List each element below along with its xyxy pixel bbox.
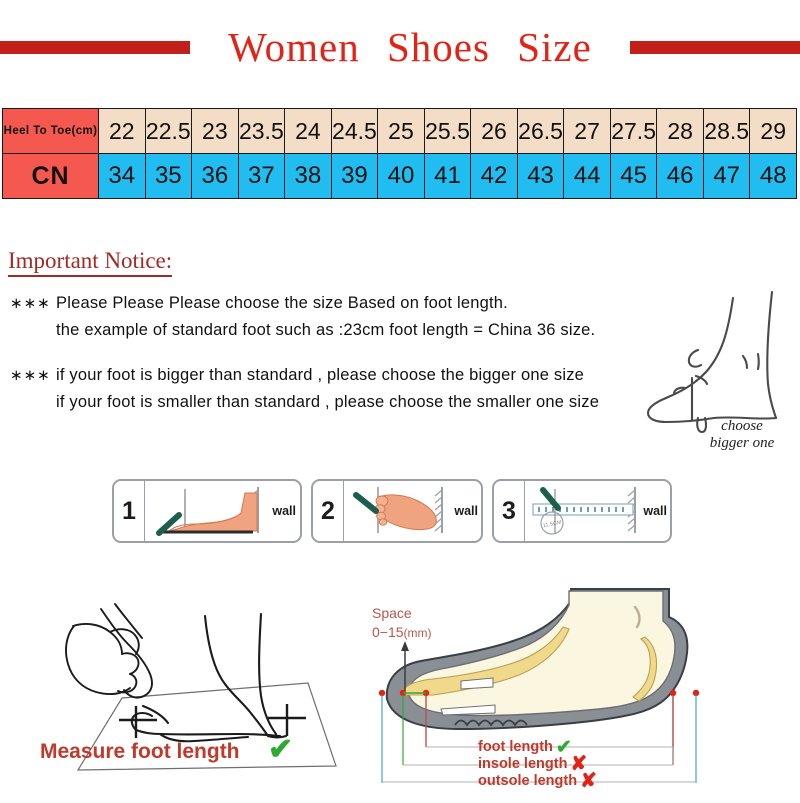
measuring-steps-panel: 1 [112, 479, 672, 543]
cell-cn-7: 41 [424, 154, 471, 199]
cell-cm-9: 26.5 [517, 109, 564, 154]
space-dimension-label: Space 0−15(mm) [372, 604, 432, 643]
title-word-2: Shoes [387, 24, 490, 70]
cell-cm-6: 25 [378, 109, 425, 154]
legend-row-outsole-length: outsole length ✘ [478, 773, 738, 790]
notice-line-1: ∗∗∗Please Please Please choose the size … [10, 290, 670, 317]
cell-cm-5: 24.5 [331, 109, 378, 154]
step-3-illustration: 11.5CM wall [525, 481, 671, 541]
cell-cn-14: 48 [750, 154, 797, 199]
step-2-illustration: wall [344, 481, 482, 541]
cell-cm-2: 23 [192, 109, 239, 154]
cell-cn-1: 35 [145, 154, 192, 199]
cell-cm-8: 26 [471, 109, 518, 154]
table-row-cn: CN 34 35 36 37 38 39 40 41 42 43 44 45 4… [3, 154, 797, 199]
shoe-diagram-legend: foot length ✔ insole length ✘ outsole le… [478, 739, 738, 790]
cell-cn-10: 44 [564, 154, 611, 199]
row-label-heel-to-toe: Heel To Toe(cm) [3, 109, 99, 154]
cell-cn-0: 34 [99, 154, 146, 199]
foot-caption-line-1: choose [692, 418, 792, 435]
measure-foot-length-caption: Measure foot length [40, 740, 240, 764]
table-row-heel-to-toe: Heel To Toe(cm) 22 22.5 23 23.5 24 24.5 … [3, 109, 797, 154]
red-cross-icon-outsole-length: ✘ [580, 773, 597, 790]
legend-row-foot-length: foot length ✔ [478, 739, 738, 756]
cell-cm-4: 24 [285, 109, 332, 154]
cell-cn-6: 40 [378, 154, 425, 199]
cell-cm-10: 27 [564, 109, 611, 154]
page-title: Women Shoes Size [190, 23, 630, 71]
legend-row-insole-length: insole length ✘ [478, 756, 738, 773]
title-word-3: Size [517, 24, 592, 70]
notice-block: ∗∗∗Please Please Please choose the size … [10, 290, 670, 416]
cell-cn-11: 45 [610, 154, 657, 199]
size-table: Heel To Toe(cm) 22 22.5 23 23.5 24 24.5 … [2, 108, 797, 199]
cell-cn-13: 47 [703, 154, 750, 199]
asterisk-bullet-icon-2: ∗∗∗ [10, 362, 56, 389]
cell-cm-7: 25.5 [424, 109, 471, 154]
ruler-measurement-badge: 11.5CM [542, 519, 562, 529]
important-notice-heading: Important Notice: [8, 248, 172, 277]
green-check-icon: ✔ [268, 735, 293, 765]
title-word-1: Women [228, 24, 360, 70]
notice-line-1-text: Please Please Please choose the size Bas… [56, 294, 508, 312]
step-panel-1: 1 [112, 479, 302, 543]
legend-label-outsole-length: outsole length [478, 773, 577, 790]
foot-art-caption: choose bigger one [692, 418, 792, 452]
space-range-value: 0−15 [372, 624, 404, 640]
cell-cn-2: 36 [192, 154, 239, 199]
wall-label-2: wall [454, 504, 478, 518]
step-panel-2: 2 [311, 479, 483, 543]
size-chart-page: Women Shoes Size Heel To Toe(cm) 22 22.5… [0, 0, 800, 800]
cell-cm-13: 28.5 [703, 109, 750, 154]
cell-cm-11: 27.5 [610, 109, 657, 154]
cell-cm-1: 22.5 [145, 109, 192, 154]
notice-line-3: ∗∗∗if your foot is bigger than standard … [10, 362, 670, 389]
step-number-1: 1 [114, 481, 145, 541]
step-number-3: 3 [494, 481, 525, 541]
legend-label-insole-length: insole length [478, 756, 567, 773]
space-label-line-2: 0−15(mm) [372, 623, 432, 643]
notice-line-2-text: the example of standard foot such as :23… [56, 321, 595, 339]
step-number-2: 2 [313, 481, 344, 541]
wall-label-3: wall [643, 504, 667, 518]
cell-cm-14: 29 [750, 109, 797, 154]
title-bar-right [630, 41, 800, 54]
space-label-line-1: Space [372, 604, 432, 623]
wall-label-1: wall [272, 504, 296, 518]
cell-cm-0: 22 [99, 109, 146, 154]
cell-cn-4: 38 [285, 154, 332, 199]
cell-cm-12: 28 [657, 109, 704, 154]
notice-line-4: if your foot is smaller than standard , … [10, 389, 670, 416]
notice-gap [10, 344, 670, 362]
legend-label-foot-length: foot length [478, 739, 553, 756]
step-1-illustration: wall [145, 481, 300, 541]
step-panel-3: 3 [492, 479, 672, 543]
cell-cn-12: 46 [657, 154, 704, 199]
foot-caption-line-2: bigger one [692, 435, 792, 452]
wall-hatch-icon [435, 487, 442, 533]
cell-cn-9: 43 [517, 154, 564, 199]
cell-cm-3: 23.5 [238, 109, 285, 154]
space-unit: (mm) [404, 626, 432, 640]
asterisk-bullet-icon: ∗∗∗ [10, 290, 56, 317]
title-bar-left [0, 41, 190, 54]
notice-line-2: the example of standard foot such as :23… [10, 317, 670, 344]
row-label-cn: CN [3, 154, 99, 199]
notice-line-3-text: if your foot is bigger than standard , p… [56, 366, 584, 384]
notice-line-4-text: if your foot is smaller than standard , … [56, 393, 599, 411]
cell-cn-5: 39 [331, 154, 378, 199]
cell-cn-8: 42 [471, 154, 518, 199]
cell-cn-3: 37 [238, 154, 285, 199]
page-title-row: Women Shoes Size [0, 18, 800, 76]
